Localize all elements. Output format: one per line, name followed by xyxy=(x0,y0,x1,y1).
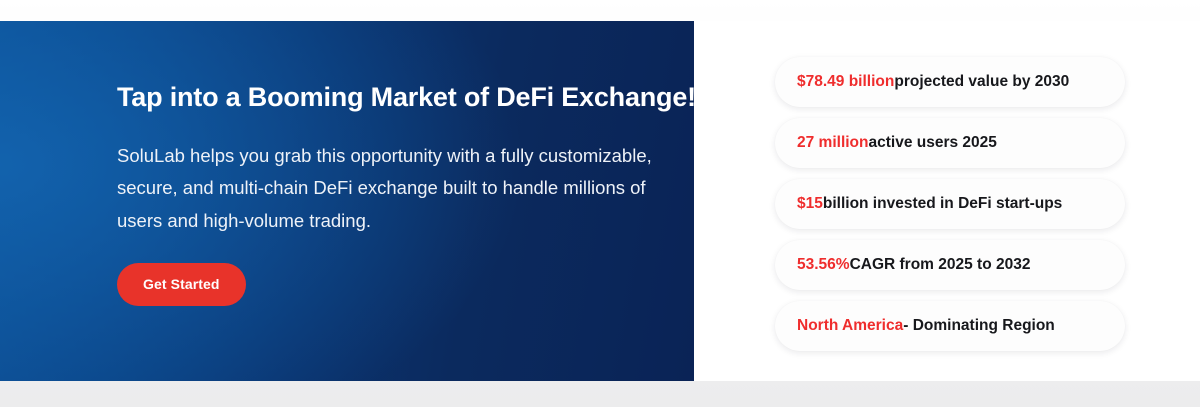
stat-highlight-value: North America xyxy=(797,318,903,334)
stat-card: $15 billion invested in DeFi start-ups xyxy=(775,179,1125,229)
stat-description: active users 2025 xyxy=(869,135,997,151)
stat-highlight-value: $78.49 billion xyxy=(797,74,894,90)
stat-description: CAGR from 2025 to 2032 xyxy=(850,257,1031,273)
stat-highlight-value: 53.56% xyxy=(797,257,850,273)
stat-card: 27 million active users 2025 xyxy=(775,118,1125,168)
hero-subcopy: SoluLab helps you grab this opportunity … xyxy=(117,140,673,237)
hero-headline: Tap into a Booming Market of DeFi Exchan… xyxy=(117,81,677,115)
hero-right-panel: $78.49 billion projected value by 203027… xyxy=(694,21,1200,381)
stat-highlight-value: 27 million xyxy=(797,135,869,151)
stat-card: 53.56% CAGR from 2025 to 2032 xyxy=(775,240,1125,290)
stat-card-list: $78.49 billion projected value by 203027… xyxy=(775,57,1125,351)
page-background: Tap into a Booming Market of DeFi Exchan… xyxy=(0,0,1200,407)
get-started-button[interactable]: Get Started xyxy=(117,263,246,306)
stat-card: $78.49 billion projected value by 2030 xyxy=(775,57,1125,107)
hero-banner: Tap into a Booming Market of DeFi Exchan… xyxy=(0,21,1200,381)
stat-card: North America- Dominating Region xyxy=(775,301,1125,351)
stat-description: projected value by 2030 xyxy=(894,74,1069,90)
stat-description: - Dominating Region xyxy=(903,318,1055,334)
hero-copy-block: Tap into a Booming Market of DeFi Exchan… xyxy=(117,81,677,306)
stat-description: billion invested in DeFi start-ups xyxy=(823,196,1062,212)
hero-left-panel: Tap into a Booming Market of DeFi Exchan… xyxy=(0,21,694,381)
stat-highlight-value: $15 xyxy=(797,196,823,212)
